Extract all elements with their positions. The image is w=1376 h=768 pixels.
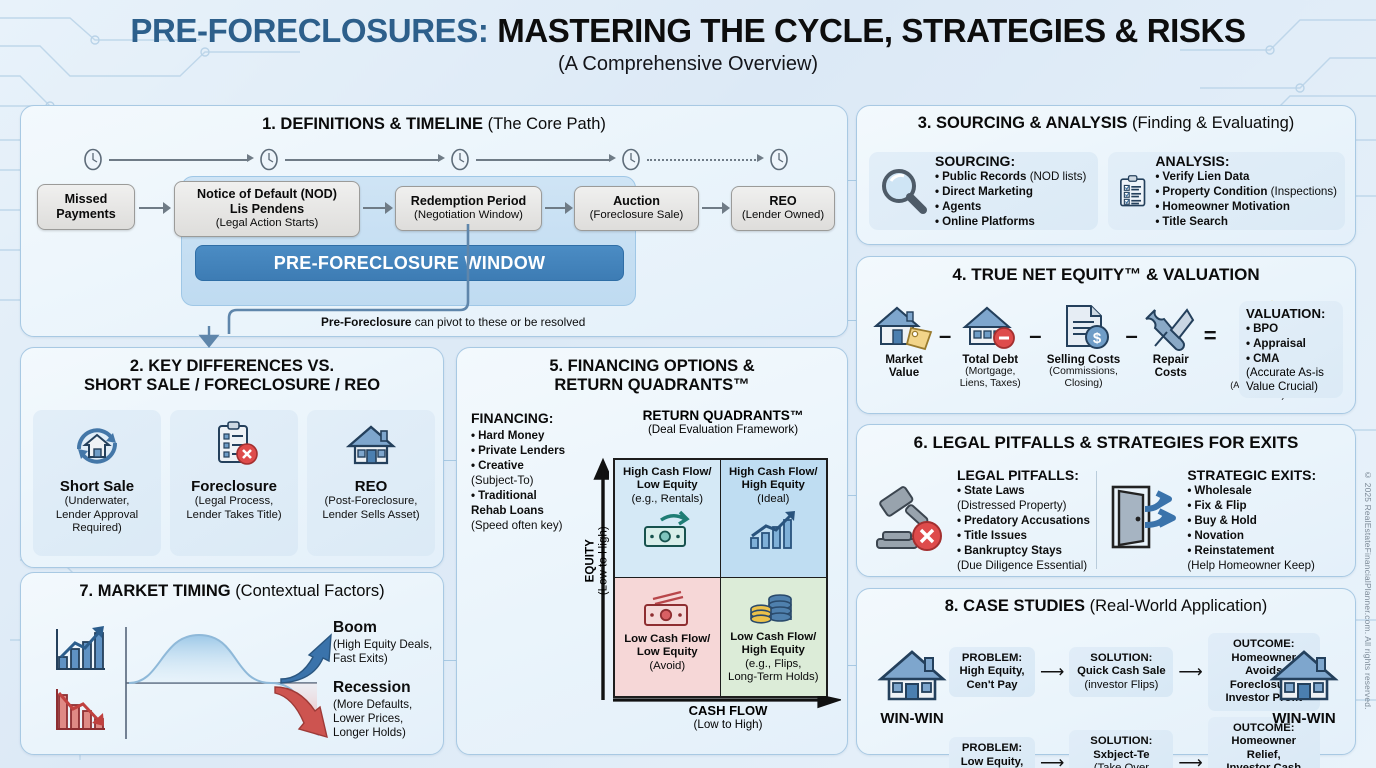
pitfalls-exits-columns: LEGAL PITFALLS: State Laws (Distressed P…	[871, 467, 1345, 573]
list-item: BPO	[1246, 321, 1336, 336]
house-minus-icon	[959, 302, 1021, 352]
card-title: Short Sale	[33, 478, 161, 495]
clock-icon	[83, 148, 103, 171]
quadrant-high-cashflow-high-equity[interactable]: High Cash Flow/High Equity(Ideal)	[721, 460, 827, 578]
list-item: Title Issues	[957, 528, 1090, 543]
list-item: Fix & Flip	[1187, 498, 1316, 513]
list-item: Bankruptcy Stays (Due Diligence Essentia…	[957, 543, 1090, 573]
arrow-right-icon: ⟶	[1178, 663, 1202, 680]
svg-text:$: $	[1092, 330, 1101, 347]
list-item: Direct Marketing	[935, 184, 1086, 199]
house-cycle-icon	[69, 419, 125, 471]
analysis-heading: ANALYSIS:	[1155, 153, 1337, 169]
section-5-title: 5. FINANCING OPTIONS &RETURN QUADRANTS™	[457, 357, 847, 395]
return-quadrants: High Cash Flow/Low Equity(e.g., Rentals)…	[613, 458, 828, 698]
gavel-x-icon	[871, 481, 947, 557]
card-desc: (Post-Foreclosure, Lender Sells Asset)	[307, 495, 435, 522]
formula-market-value: Market Value	[871, 301, 937, 380]
boom-label: Boom(High Equity Deals, Fast Exits)	[333, 619, 432, 666]
operator-minus: –	[1126, 301, 1138, 349]
list-item: Homeowner Motivation	[1155, 199, 1337, 214]
section-3-title: 3. SOURCING & ANALYSIS (Finding & Evalua…	[857, 114, 1355, 133]
infographic-page: PRE-FORECLOSURES: MASTERING THE CYCLE, S…	[0, 0, 1376, 768]
list-item: State Laws (Distressed Property)	[957, 483, 1090, 513]
operator-equals: =	[1204, 301, 1217, 349]
problem-box[interactable]: PROBLEM:High Equity, Cen't Pay	[949, 647, 1035, 698]
section-market-timing: 7. MARKET TIMING (Contextual Factors)	[20, 572, 444, 755]
section-financing-quadrants: 5. FINANCING OPTIONS &RETURN QUADRANTS™ …	[456, 347, 848, 755]
section-true-net-equity: 4. TRUE NET EQUITY™ & VALUATION Market V…	[856, 256, 1356, 414]
valuation-items: BPO Appraisal CMA	[1246, 321, 1336, 366]
stage-reo[interactable]: REO(Lender Owned)	[731, 186, 835, 231]
bar-chart-up-icon	[51, 623, 107, 673]
stage-redemption-period[interactable]: Redemption Period(Negotiation Window)	[395, 186, 542, 231]
section-legal-pitfalls-exits: 6. LEGAL PITFALLS & STRATEGIES FOR EXITS…	[856, 424, 1356, 577]
coin-stacks-icon	[743, 587, 803, 629]
list-item: Novation	[1187, 528, 1316, 543]
arrow-down-to-section-2	[198, 326, 222, 350]
list-item: Private Lenders	[471, 443, 599, 458]
door-arrows-icon	[1107, 479, 1179, 555]
list-item: Traditional Rehab Loans (Speed often key…	[471, 488, 599, 533]
list-item: Property Condition (Inspections)	[1155, 184, 1337, 199]
card-desc: (Legal Process, Lender Takes Title)	[170, 495, 298, 522]
section-definitions-timeline: 1. DEFINITIONS & TIMELINE (The Core Path…	[20, 105, 848, 337]
document-dollar-icon: $	[1055, 302, 1113, 352]
timeline-track	[83, 148, 803, 174]
section-sourcing-analysis: 3. SOURCING & ANALYSIS (Finding & Evalua…	[856, 105, 1356, 245]
tools-icon	[1143, 302, 1199, 352]
list-item: Hard Money	[471, 428, 599, 443]
formula-total-debt: Total Debt (Mortgage, Liens, Taxes)	[953, 301, 1027, 390]
operator-minus: –	[1029, 301, 1041, 349]
clock-icon	[259, 148, 279, 171]
exits-items: Wholesale Fix & Flip Buy & Hold Novation…	[1187, 483, 1316, 573]
section-7-title: 7. MARKET TIMING (Contextual Factors)	[21, 582, 443, 601]
clipboard-check-icon	[1116, 165, 1149, 217]
formula-repair-costs: Repair Costs	[1140, 301, 1202, 380]
operator-minus: –	[939, 301, 951, 349]
quadrant-low-cashflow-high-equity[interactable]: Low Cash Flow/High Equity(e.g., Flips, L…	[721, 578, 827, 696]
clipboard-x-icon	[206, 419, 262, 471]
exits-heading: STRATEGIC EXITS:	[1187, 467, 1316, 483]
valuation-heading: VALUATION:	[1246, 306, 1336, 321]
title-main: MASTERING THE CYCLE, STRATEGIES & RISKS	[497, 12, 1245, 49]
pivot-note: Pre-Foreclosure can pivot to these or be…	[321, 315, 585, 329]
list-item: Creative (Subject-To)	[471, 458, 599, 488]
financing-list: FINANCING: Hard Money Private Lenders Cr…	[471, 410, 599, 533]
card-desc: (Underwater, Lender Approval Required)	[33, 495, 161, 536]
list-item: Appraisal	[1246, 336, 1336, 351]
pre-foreclosure-window-bar: PRE-FORECLOSURE WINDOW	[195, 245, 624, 281]
card-sourcing[interactable]: SOURCING: Public Records (NOD lists) Dir…	[869, 152, 1098, 230]
house-icon	[343, 419, 399, 471]
section-8-title: 8. CASE STUDIES (Real-World Application)	[857, 597, 1355, 616]
winwin-left: WIN-WIN	[871, 647, 953, 727]
winwin-right: WIN-WIN	[1263, 647, 1345, 727]
card-title: Foreclosure	[170, 478, 298, 495]
magnifier-icon	[877, 165, 929, 217]
quadrant-high-cashflow-low-equity[interactable]: High Cash Flow/Low Equity(e.g., Rentals)	[615, 460, 721, 578]
title-accent: PRE-FORECLOSURES:	[130, 12, 488, 49]
list-item: Online Platforms	[935, 214, 1086, 229]
column-divider	[1096, 471, 1097, 569]
card-title: REO	[307, 478, 435, 495]
card-reo[interactable]: REO (Post-Foreclosure, Lender Sells Asse…	[307, 410, 435, 556]
page-title: PRE-FORECLOSURES: MASTERING THE CYCLE, S…	[0, 14, 1376, 49]
quadrant-heading: RETURN QUADRANTS™	[605, 408, 841, 423]
clock-icon	[769, 148, 789, 171]
bar-chart-down-icon	[51, 683, 107, 733]
x-axis-label: CASH FLOW(Low to High)	[613, 703, 843, 731]
financing-items: Hard Money Private Lenders Creative (Sub…	[471, 428, 599, 533]
quadrant-heading-block: RETURN QUADRANTS™ (Deal Evaluation Frame…	[605, 408, 841, 436]
recession-label: Recession(More Defaults, Lower Prices, L…	[333, 679, 412, 740]
quadrant-low-cashflow-low-equity[interactable]: Low Cash Flow/Low Equity(Avoid)	[615, 578, 721, 696]
list-item: Buy & Hold	[1187, 513, 1316, 528]
section-2-title: 2. KEY DIFFERENCES VS.SHORT SALE / FOREC…	[21, 357, 443, 395]
header: PRE-FORECLOSURES: MASTERING THE CYCLE, S…	[0, 0, 1376, 76]
formula-selling-costs: $ Selling Costs (Commissions, Closing)	[1044, 301, 1124, 390]
stage-missed-payments[interactable]: MissedPayments	[37, 184, 135, 230]
stage-notice-of-default[interactable]: Notice of Default (NOD)Lis Pendens(Legal…	[174, 181, 360, 237]
key-difference-cards: Short Sale (Underwater, Lender Approval …	[33, 410, 435, 556]
list-item: Public Records (NOD lists)	[935, 169, 1086, 184]
list-item: Reinstatement (Help Homeowner Keep)	[1187, 543, 1316, 573]
page-subtitle: (A Comprehensive Overview)	[0, 53, 1376, 76]
card-short-sale[interactable]: Short Sale (Underwater, Lender Approval …	[33, 410, 161, 556]
valuation-box[interactable]: VALUATION: BPO Appraisal CMA (Accurate A…	[1239, 301, 1343, 398]
cash-red-icon	[637, 589, 697, 631]
section-1-title: 1. DEFINITIONS & TIMELINE (The Core Path…	[21, 115, 847, 134]
arrow-right-icon: ⟶	[1040, 663, 1064, 680]
card-foreclosure[interactable]: Foreclosure (Legal Process, Lender Takes…	[170, 410, 298, 556]
pitfalls-items: State Laws (Distressed Property) Predato…	[957, 483, 1090, 573]
growth-chart-icon	[743, 508, 803, 550]
analysis-items: Verify Lien Data Property Condition (Ins…	[1155, 169, 1337, 229]
arrow-right-icon: ⟶	[1040, 754, 1064, 768]
list-item: Predatory Accusations	[957, 513, 1090, 528]
section-key-differences: 2. KEY DIFFERENCES VS.SHORT SALE / FOREC…	[20, 347, 444, 568]
sourcing-items: Public Records (NOD lists) Direct Market…	[935, 169, 1086, 229]
problem-box[interactable]: PROBLEM:Low Equity, Motivated	[949, 737, 1035, 768]
quadrant-subheading: (Deal Evaluation Framework)	[605, 423, 841, 436]
copyright-notice: © 2025 RealEstateFinancialPlanner.com. A…	[1363, 470, 1373, 710]
valuation-note: (Accurate As-is Value Crucial)	[1246, 366, 1336, 393]
section-6-title: 6. LEGAL PITFALLS & STRATEGIES FOR EXITS	[857, 433, 1355, 453]
section-case-studies: 8. CASE STUDIES (Real-World Application)…	[856, 588, 1356, 755]
sourcing-heading: SOURCING:	[935, 153, 1086, 169]
house-icon	[875, 647, 949, 705]
list-item: Title Search	[1155, 214, 1337, 229]
stage-auction[interactable]: Auction(Foreclosure Sale)	[574, 186, 699, 231]
sourcing-analysis-cards: SOURCING: Public Records (NOD lists) Dir…	[869, 152, 1345, 230]
arrow-right-icon: ⟶	[1178, 754, 1202, 768]
list-item: Agents	[935, 199, 1086, 214]
pitfalls-heading: LEGAL PITFALLS:	[957, 467, 1090, 483]
y-axis-label: EQUITY(Low to High)	[584, 513, 610, 609]
clock-icon	[450, 148, 470, 171]
section-4-title: 4. TRUE NET EQUITY™ & VALUATION	[857, 265, 1355, 285]
list-item: CMA	[1246, 351, 1336, 366]
financing-heading: FINANCING:	[471, 410, 599, 426]
cash-arrow-icon	[637, 510, 697, 550]
house-icon	[1267, 647, 1341, 705]
solution-box[interactable]: SOLUTION:Sxbject-Te(Take Over Payments)	[1069, 730, 1173, 768]
solution-box[interactable]: SOLUTION:Quick Cash Sale(investor Flips)	[1069, 647, 1173, 698]
card-analysis[interactable]: ANALYSIS: Verify Lien Data Property Cond…	[1108, 152, 1345, 230]
house-tag-icon	[873, 302, 935, 352]
clock-icon	[621, 148, 641, 171]
list-item: Wholesale	[1187, 483, 1316, 498]
list-item: Verify Lien Data	[1155, 169, 1337, 184]
